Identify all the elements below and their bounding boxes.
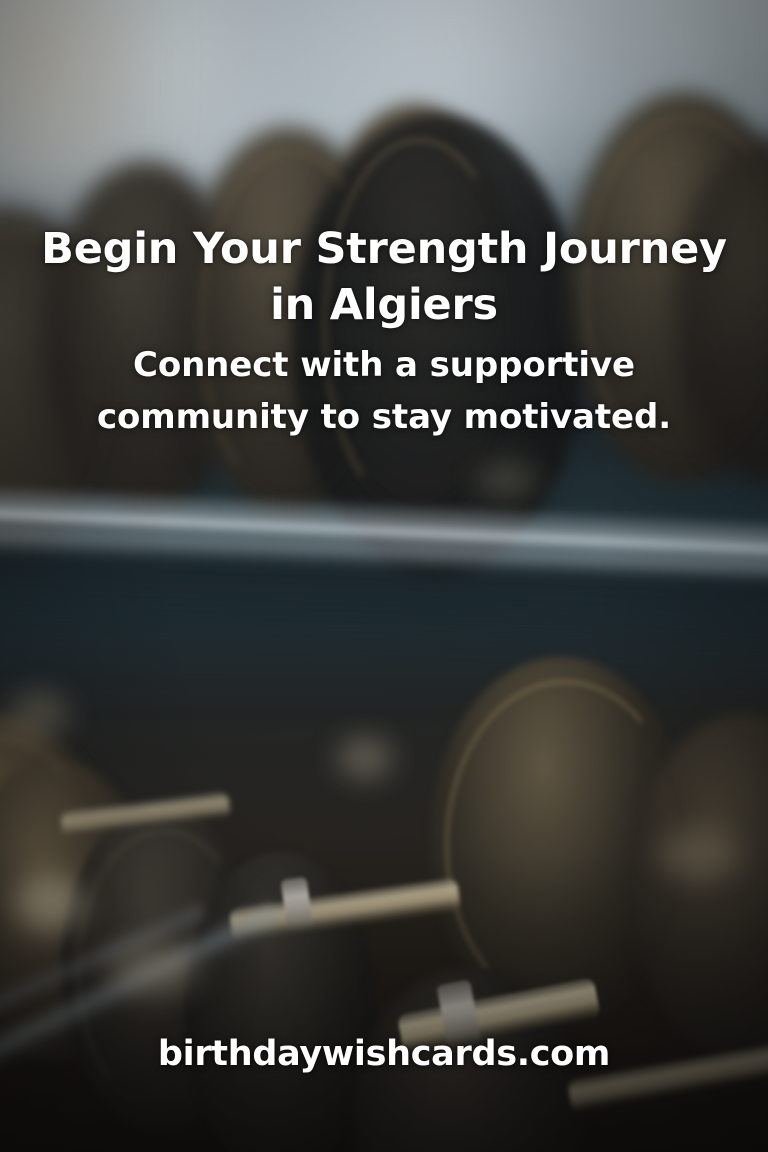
site-watermark: birthdaywishcards.com bbox=[0, 1034, 768, 1074]
text-overlay: Begin Your Strength Journey in Algiers C… bbox=[0, 0, 768, 1152]
page-title: Begin Your Strength Journey in Algiers bbox=[22, 222, 746, 334]
page-subtitle: Connect with a supportive community to s… bbox=[60, 340, 708, 443]
pin-graphic: Begin Your Strength Journey in Algiers C… bbox=[0, 0, 768, 1152]
